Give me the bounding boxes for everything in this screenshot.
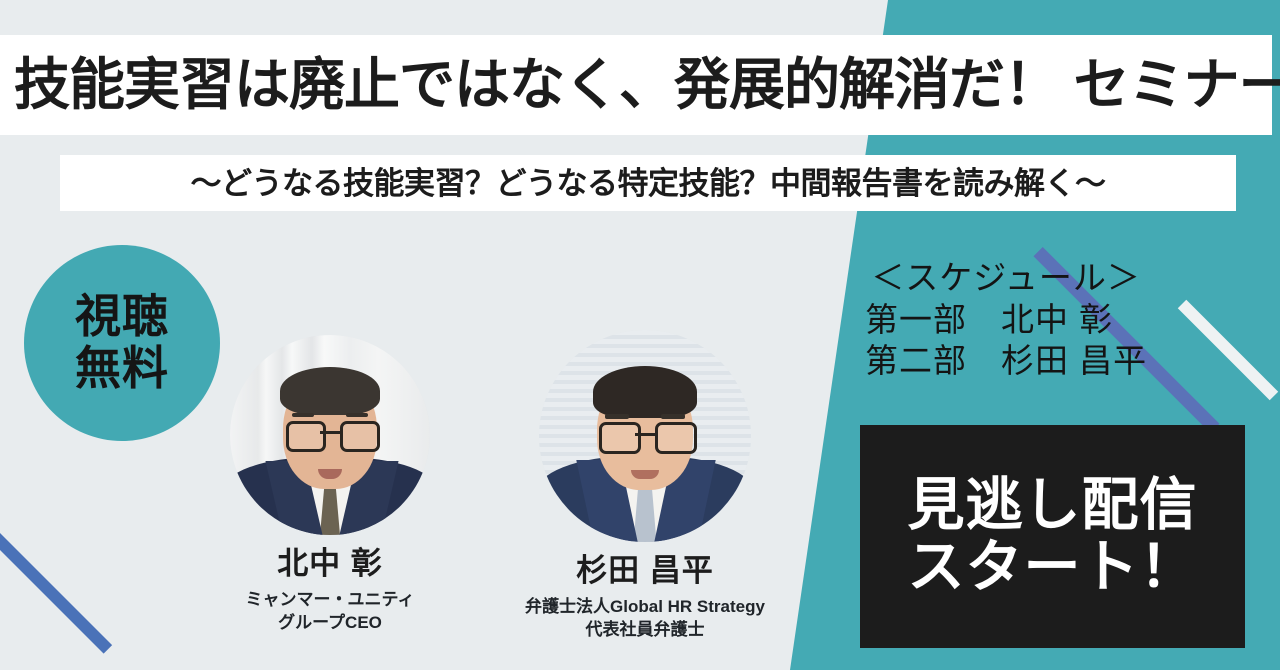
speaker-portrait-sugita	[539, 330, 751, 542]
speaker-role-kitanaka: ミャンマー・ユニティ グループCEO	[180, 589, 480, 635]
schedule-heading: ＜スケジュール＞	[865, 258, 1147, 298]
speaker-role-sugita-line-2: 代表社員弁護士	[495, 619, 795, 642]
portrait-glasses-left-lens-icon	[599, 422, 641, 454]
speaker-role-sugita-line-1: 弁護士法人Global HR Strategy	[495, 596, 795, 619]
schedule-row-part-1: 第一部 北中 彰	[865, 300, 1147, 340]
speaker-card-kitanaka: 北中 彰 ミャンマー・ユニティ グループCEO	[180, 335, 480, 635]
speaker-role-kitanaka-line-1: ミャンマー・ユニティ	[180, 589, 480, 612]
free-badge-line-2: 無料	[75, 343, 169, 395]
replay-cta-box[interactable]: 見逃し配信 スタート！	[860, 425, 1245, 648]
portrait-glasses-bridge-icon	[320, 431, 340, 434]
cta-line-2: スタート！	[908, 537, 1198, 599]
seminar-title: 技能実習は廃止ではなく、発展的解消だ！ セミナー	[0, 57, 1280, 113]
speaker-role-sugita: 弁護士法人Global HR Strategy 代表社員弁護士	[495, 596, 795, 642]
subtitle-band: 〜どうなる技能実習？どうなる特定技能？中間報告書を読み解く〜	[60, 155, 1236, 211]
portrait-glasses-left-lens-icon	[286, 421, 326, 452]
speaker-portrait-kitanaka	[230, 335, 430, 535]
portrait-brow-right-icon	[661, 414, 685, 419]
title-band: 技能実習は廃止ではなく、発展的解消だ！ セミナー	[0, 35, 1272, 135]
free-badge-line-1: 視聴	[75, 291, 169, 343]
speaker-role-kitanaka-line-2: グループCEO	[180, 612, 480, 635]
speaker-name-sugita: 杉田 昌平	[495, 554, 795, 588]
seminar-subtitle: 〜どうなる技能実習？どうなる特定技能？中間報告書を読み解く〜	[191, 168, 1106, 199]
portrait-hair-icon	[593, 366, 697, 418]
portrait-glasses-right-lens-icon	[655, 422, 697, 454]
cta-line-1: 見逃し配信	[908, 475, 1198, 537]
schedule-row-part-2: 第二部 杉田 昌平	[865, 341, 1147, 381]
speaker-card-sugita: 杉田 昌平 弁護士法人Global HR Strategy 代表社員弁護士	[495, 330, 795, 642]
portrait-brow-left-icon	[605, 414, 629, 419]
portrait-brow-right-icon	[346, 413, 368, 417]
portrait-glasses-right-lens-icon	[340, 421, 380, 452]
schedule-block: ＜スケジュール＞ 第一部 北中 彰 第二部 杉田 昌平	[865, 258, 1147, 381]
speaker-name-kitanaka: 北中 彰	[180, 547, 480, 581]
banner-canvas: 技能実習は廃止ではなく、発展的解消だ！ セミナー 〜どうなる技能実習？どうなる特…	[0, 0, 1280, 670]
portrait-hair-icon	[280, 367, 380, 415]
diagonal-accent-blue-bottom-left-icon	[0, 521, 112, 653]
portrait-brow-left-icon	[292, 413, 314, 417]
portrait-glasses-bridge-icon	[635, 433, 655, 436]
